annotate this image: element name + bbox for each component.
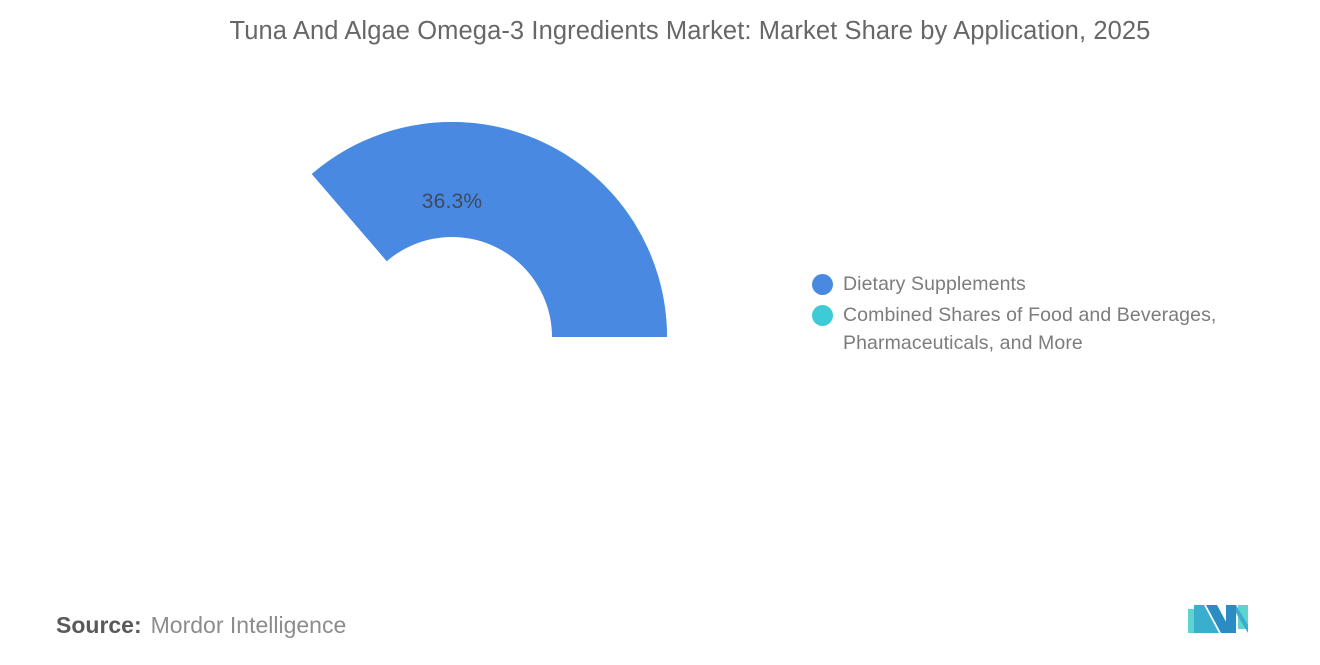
source-attribution: Source: Mordor Intelligence [56, 612, 346, 639]
donut-center-hole [352, 237, 552, 437]
logo-svg [1186, 599, 1250, 635]
legend-swatch-icon-dietary [812, 274, 833, 295]
legend-label-combined: Combined Shares of Food and Beverages, P… [843, 301, 1282, 357]
donut-slice-label-dietary: 36.3% [392, 190, 512, 214]
source-value: Mordor Intelligence [151, 612, 347, 639]
legend-swatch-icon-combined [812, 305, 833, 326]
chart-legend: Dietary Supplements Combined Shares of F… [812, 270, 1282, 360]
mordor-intelligence-logo-icon [1186, 599, 1250, 635]
legend-item-dietary-supplements[interactable]: Dietary Supplements [812, 270, 1282, 298]
chart-title: Tuna And Algae Omega-3 Ingredients Marke… [160, 12, 1220, 50]
donut-chart: 36.3% [237, 122, 667, 552]
legend-label-dietary: Dietary Supplements [843, 270, 1026, 298]
donut-chart-svg [237, 122, 667, 552]
legend-item-combined-shares[interactable]: Combined Shares of Food and Beverages, P… [812, 301, 1282, 357]
source-label: Source: [56, 612, 142, 639]
